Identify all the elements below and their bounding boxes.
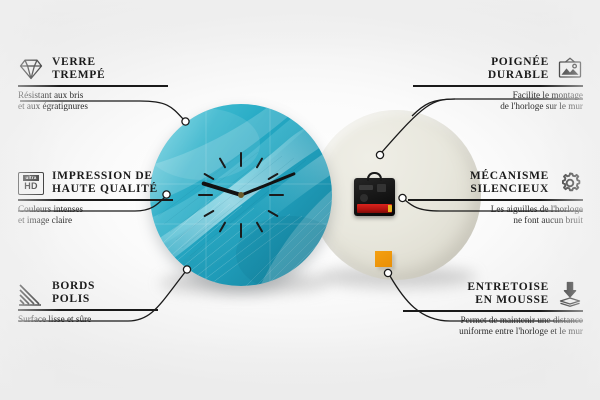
ultra-hd-icon-large-text: HD (24, 182, 38, 191)
callout-description: Permet de maintenir une distance uniform… (403, 315, 583, 338)
callout-divider (18, 85, 168, 87)
arrow-down-layers-icon (557, 281, 583, 307)
callout-description: Facilite le montage de l'horloge sur le … (413, 90, 583, 113)
callout-title: IMPRESSION DE HAUTE QUALITÉ (52, 170, 158, 196)
clock-hand-cap (238, 192, 244, 198)
callout-description: Surface lisse et sûre (18, 314, 168, 325)
callout-poignee-durable: POIGNÉE DURABLE Facilite le montage de l… (413, 56, 583, 112)
gear-icon (557, 170, 583, 196)
callout-divider (403, 310, 583, 312)
callout-description: Les aiguilles de l'horloge ne font aucun… (408, 204, 583, 227)
polished-edges-icon (18, 280, 44, 306)
callout-impression-hd: ultra HD IMPRESSION DE HAUTE QUALITÉ Cou… (18, 170, 183, 226)
callout-divider (408, 199, 583, 201)
picture-frame-hanger-icon (557, 56, 583, 82)
callout-verre-trempe: VERRE TREMPÉ Résistant aux bris et aux é… (18, 56, 178, 112)
callout-title: VERRE TREMPÉ (52, 56, 105, 82)
callout-header: ENTRETOISE EN MOUSSE (403, 281, 583, 307)
mechanism-detail (360, 194, 368, 202)
callout-title: BORDS POLIS (52, 280, 95, 306)
mechanism-detail (377, 184, 386, 192)
battery-terminal (388, 205, 392, 212)
mechanism-detail (359, 185, 373, 190)
ultra-hd-icon: ultra HD (18, 172, 44, 195)
infographic-canvas: VERRE TREMPÉ Résistant aux bris et aux é… (0, 0, 600, 400)
callout-entretoise-mousse: ENTRETOISE EN MOUSSE Permet de maintenir… (403, 281, 583, 337)
hanger-hook-icon (367, 172, 382, 181)
callout-description: Résistant aux bris et aux égratignures (18, 90, 178, 113)
callout-header: BORDS POLIS (18, 280, 168, 306)
callout-divider (18, 199, 173, 201)
diamond-icon (18, 56, 44, 82)
foam-spacer (375, 251, 392, 267)
battery (357, 204, 392, 213)
callout-divider (18, 309, 158, 311)
callout-bords-polis: BORDS POLIS Surface lisse et sûre (18, 280, 168, 325)
ultra-hd-icon-small-text: ultra (23, 175, 39, 181)
callout-mecanisme-silencieux: MÉCANISME SILENCIEUX Les aiguilles de l'… (408, 170, 583, 226)
callout-title: ENTRETOISE EN MOUSSE (467, 281, 549, 307)
callout-header: MÉCANISME SILENCIEUX (408, 170, 583, 196)
callout-title: POIGNÉE DURABLE (488, 56, 549, 82)
callout-header: VERRE TREMPÉ (18, 56, 178, 82)
callout-description: Couleurs intenses et image claire (18, 204, 183, 227)
callout-header: POIGNÉE DURABLE (413, 56, 583, 82)
callout-header: ultra HD IMPRESSION DE HAUTE QUALITÉ (18, 170, 183, 196)
callout-title: MÉCANISME SILENCIEUX (470, 170, 549, 196)
callout-divider (413, 85, 583, 87)
clock-mechanism-box (354, 178, 395, 216)
